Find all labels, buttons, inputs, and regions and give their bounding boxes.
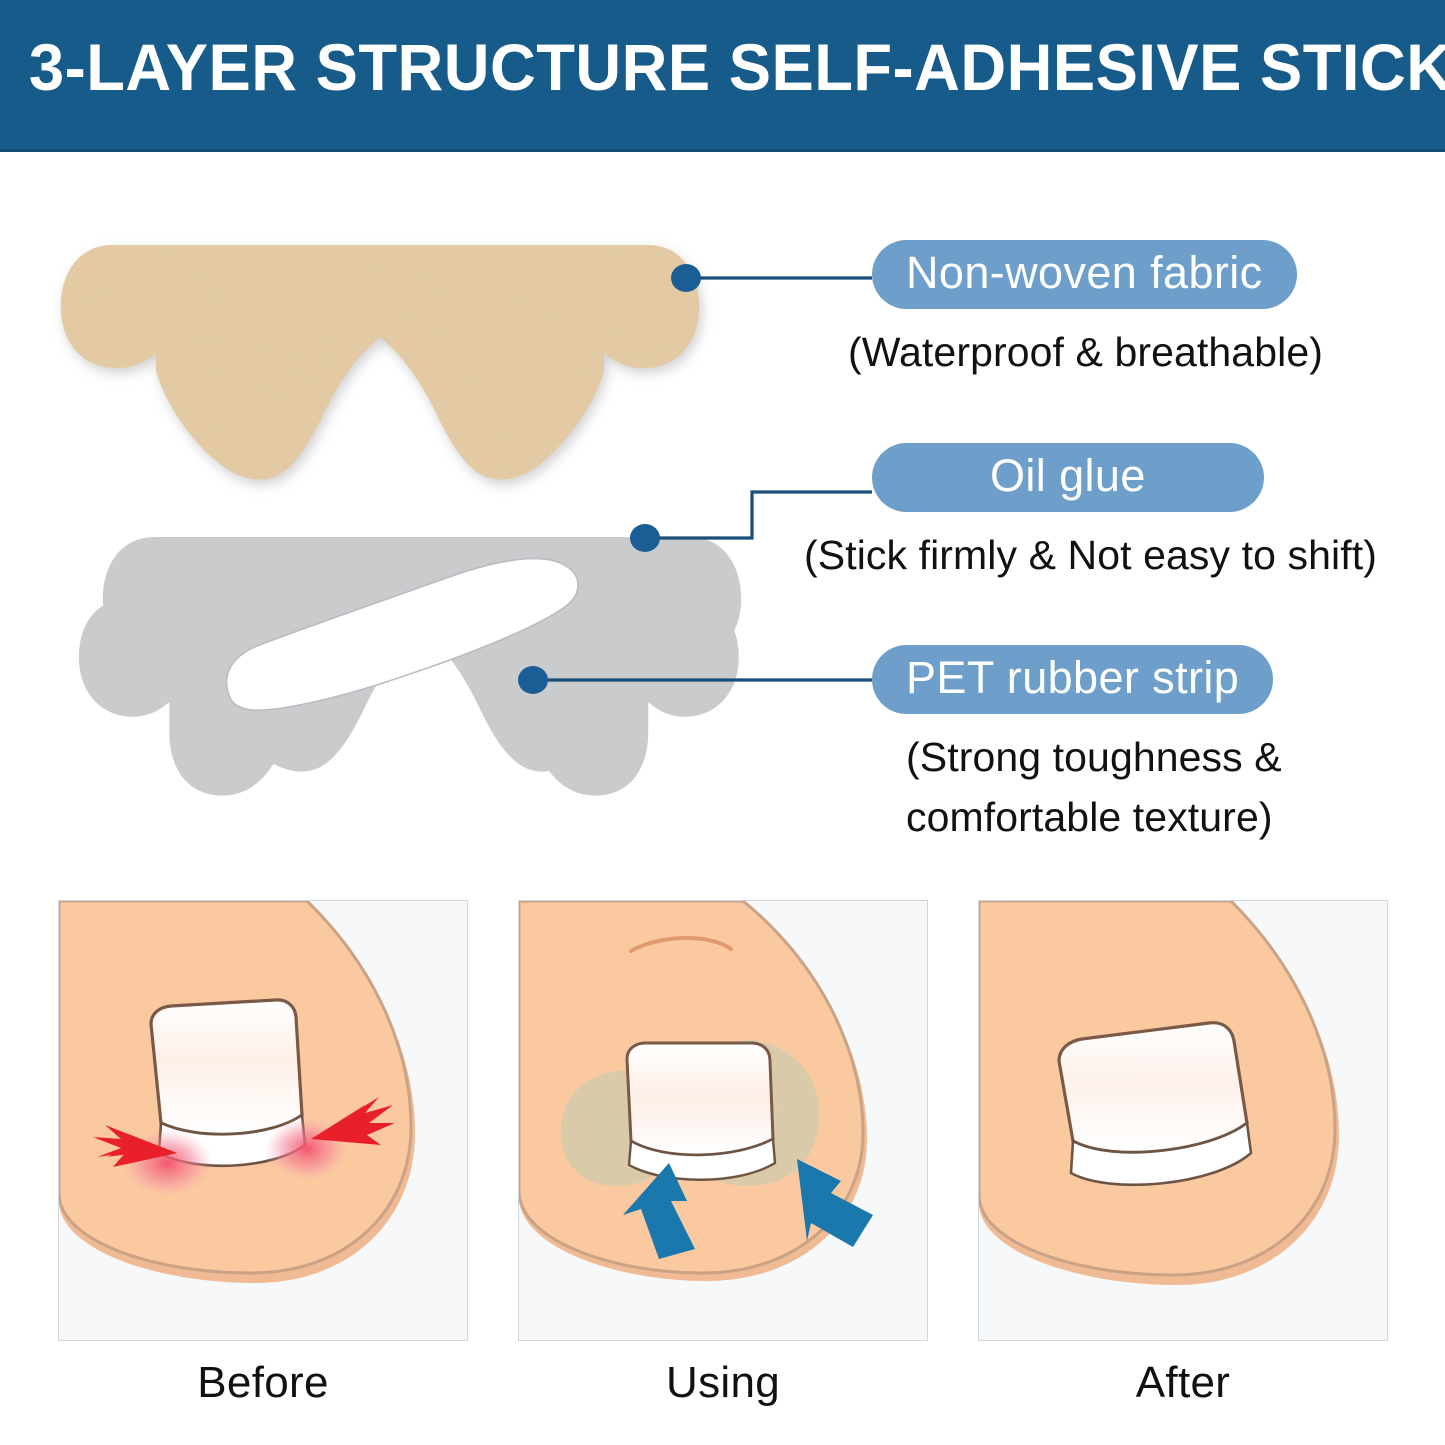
panel-after [978, 900, 1388, 1341]
non-woven-fabric-layer [61, 245, 699, 480]
panel-label-row: Before Using After [58, 1358, 1388, 1408]
toe-illustration [979, 901, 1339, 1285]
callout-subtitle-non-woven-fabric: (Waterproof & breathable) [848, 323, 1323, 382]
panel-label-after: After [978, 1358, 1388, 1408]
callout-subtitle-pet-rubber-strip: (Strong toughness & comfortable texture) [906, 728, 1366, 847]
callout-title-oil-glue: Oil glue [872, 443, 1264, 512]
panel-label-using: Using [518, 1358, 928, 1408]
callout-title-non-woven-fabric: Non-woven fabric [872, 240, 1297, 309]
panel-label-before: Before [58, 1358, 468, 1408]
callout-title-pet-rubber-strip: PET rubber strip [872, 645, 1273, 714]
callout-subtitle-oil-glue: (Stick firmly & Not easy to shift) [804, 526, 1377, 585]
toe-illustration [519, 901, 873, 1281]
page-title: 3-LAYER STRUCTURE SELF-ADHESIVE STICKER [29, 33, 1416, 102]
header-bar: 3-LAYER STRUCTURE SELF-ADHESIVE STICKER [0, 0, 1445, 152]
comparison-panels [58, 900, 1388, 1341]
callout-non-woven-fabric: Non-woven fabric (Waterproof & breathabl… [872, 240, 1323, 383]
callout-oil-glue: Oil glue (Stick firmly & Not easy to shi… [872, 443, 1377, 586]
panel-using [518, 900, 928, 1341]
toe-illustration [59, 901, 415, 1283]
panel-before [58, 900, 468, 1341]
connector-non-woven-fabric [671, 264, 872, 292]
callout-pet-rubber-strip: PET rubber strip (Strong toughness & com… [872, 645, 1366, 847]
